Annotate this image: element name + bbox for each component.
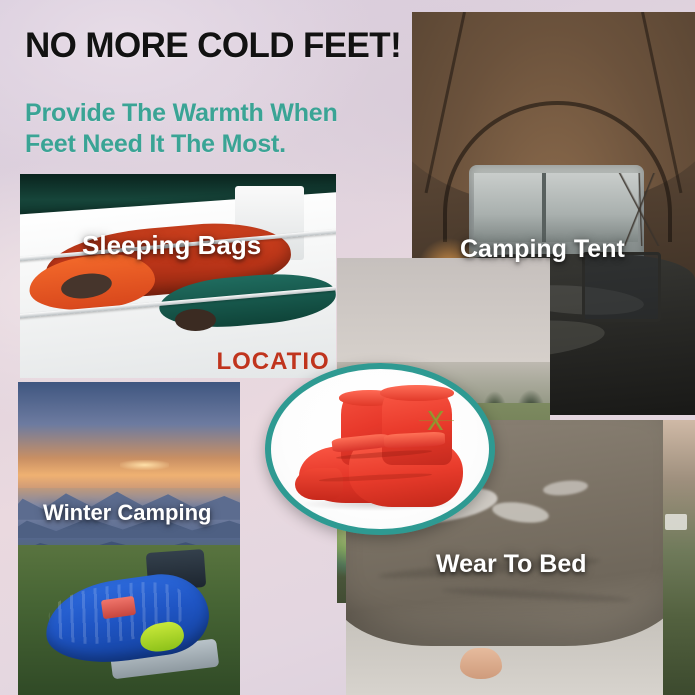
- panel-label-wear-to-bed: Wear To Bed: [436, 550, 587, 579]
- subtitle-line-1: Provide The Warmth When: [25, 98, 338, 129]
- edge-highlight: [665, 514, 687, 531]
- product-infographic: NO MORE COLD FEET! Provide The Warmth Wh…: [0, 0, 695, 695]
- sun-glow: [120, 460, 169, 469]
- panel-label-winter-camping: Winter Camping: [43, 500, 211, 526]
- panel-label-camping-tent: Camping Tent: [460, 235, 625, 264]
- panel-label-sleeping-bags: Sleeping Bags: [82, 230, 261, 261]
- brand-logo-icon: [419, 411, 454, 430]
- hull-lettering: LOCATIO: [216, 348, 329, 376]
- bootie-right-cuff: [380, 385, 454, 401]
- subtitle: Provide The Warmth When Feet Need It The…: [25, 98, 338, 159]
- bootie-left-toe: [295, 468, 343, 500]
- panel-edge-strip: [663, 420, 695, 695]
- product-badge-oval: [265, 363, 495, 535]
- window-mullion: [542, 173, 546, 242]
- sleeper-head-lower: [175, 309, 216, 331]
- subtitle-line-2: Feet Need It The Most.: [25, 129, 338, 160]
- bare-feet: [460, 648, 501, 678]
- sunset-sky: [18, 382, 240, 488]
- panel-sleeping-bags: LOCATIO Sleeping Bags: [20, 174, 336, 378]
- panel-winter-camping: Winter Camping: [18, 382, 240, 695]
- page-title: NO MORE COLD FEET!: [25, 26, 401, 66]
